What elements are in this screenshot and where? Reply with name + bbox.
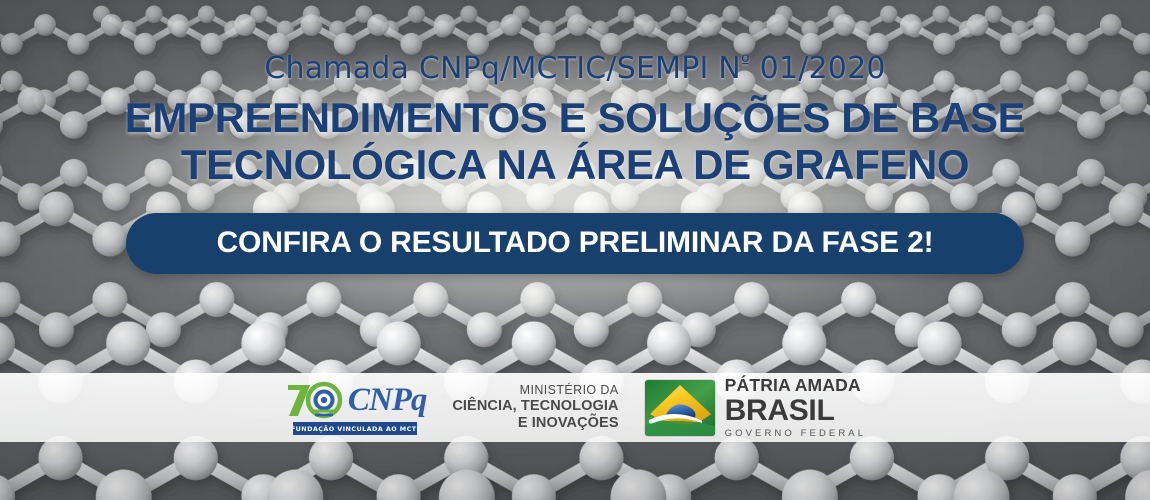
ministry-line-2: CIÊNCIA, TECNOLOGIA [452, 398, 618, 415]
brasil-line-3: GOVERNO FEDERAL [725, 429, 867, 439]
page-title: EMPREENDIMENTOS E SOLUÇÕES DE BASE TECNO… [125, 97, 1025, 187]
cta-label: CONFIRA O RESULTADO PRELIMINAR DA FASE 2… [217, 226, 934, 260]
ministry-wordmark[interactable]: MINISTÉRIO DA CIÊNCIA, TECNOLOGIA E INOV… [452, 383, 618, 432]
brasil-line-1: PÁTRIA AMADA [725, 377, 867, 395]
brasil-line-2: BRASIL [725, 396, 867, 426]
view-preliminary-result-button[interactable]: CONFIRA O RESULTADO PRELIMINAR DA FASE 2… [126, 213, 1024, 274]
graphene-call-banner: Chamada CNPq/MCTIC/SEMPI Nº 01/2020 EMPR… [0, 0, 1150, 500]
governo-federal-wordmark: PÁTRIA AMADA BRASIL GOVERNO FEDERAL [725, 377, 867, 438]
governo-federal-logo[interactable]: PÁTRIA AMADA BRASIL GOVERNO FEDERAL [645, 377, 867, 438]
ministry-line-1: MINISTÉRIO DA [452, 383, 618, 398]
brazil-flag-emblem-icon [645, 380, 715, 436]
cnpq-logo-row: CNPq [284, 380, 427, 420]
ministry-line-3: E INOVAÇÕES [452, 415, 618, 432]
call-number: 01/2020 [750, 51, 886, 86]
banner-content: Chamada CNPq/MCTIC/SEMPI Nº 01/2020 EMPR… [0, 0, 1150, 373]
call-subtitle: Chamada CNPq/MCTIC/SEMPI Nº 01/2020 [264, 54, 885, 84]
cnpq-tagline-strip: FUNDAÇÃO VINCULADA AO MCTI [293, 422, 417, 435]
headline-line-2: TECNOLÓGICA NA ÁREA DE GRAFENO [125, 144, 1025, 187]
headline-line-1: EMPREENDIMENTOS E SOLUÇÕES DE BASE [125, 94, 1025, 141]
cnpq-70-eye-icon [284, 380, 352, 420]
cnpq-wordmark: CNPq [348, 384, 427, 417]
ordinal-indicator: º [741, 52, 750, 73]
cnpq-tagline: FUNDAÇÃO VINCULADA AO MCTI [291, 425, 420, 433]
institutional-logo-bar: CNPq FUNDAÇÃO VINCULADA AO MCTI MINISTÉR… [0, 373, 1150, 442]
call-subtitle-text: Chamada CNPq/MCTIC/SEMPI N [264, 51, 741, 86]
cnpq-logo[interactable]: CNPq FUNDAÇÃO VINCULADA AO MCTI [284, 380, 427, 435]
